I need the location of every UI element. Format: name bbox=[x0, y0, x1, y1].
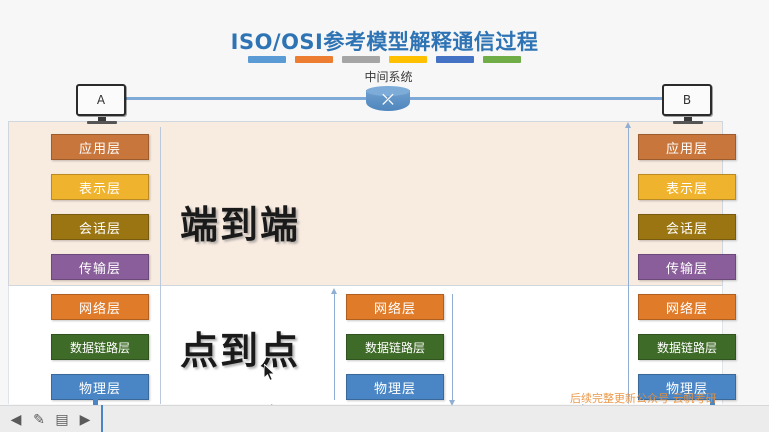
layer-box-datalink-mid[interactable]: 数据链路层 bbox=[346, 334, 444, 360]
watermark-line-1: 后续完整更新公众号 云帆考研 bbox=[570, 390, 717, 406]
arrow-head-up-icon bbox=[625, 122, 631, 128]
layer-box-presentation[interactable]: 表示层 bbox=[51, 174, 149, 200]
arrow-down-out-of-router-stack bbox=[452, 294, 453, 400]
host-a-label: A bbox=[76, 84, 126, 116]
title-decoration-bars bbox=[0, 56, 769, 63]
caption-end-to-end: 端到端 bbox=[180, 194, 300, 249]
router-icon: ⤫ bbox=[366, 86, 410, 114]
link-host-a-to-router bbox=[126, 97, 369, 100]
layer-box-transport[interactable]: 传输层 bbox=[51, 254, 149, 280]
layer-box-network-mid[interactable]: 网络层 bbox=[346, 294, 444, 320]
toolbar-accent-bar bbox=[101, 405, 103, 432]
layer-box-session[interactable]: 会话层 bbox=[51, 214, 149, 240]
layer-box-session-right[interactable]: 会话层 bbox=[638, 214, 736, 240]
layer-box-application[interactable]: 应用层 bbox=[51, 134, 149, 160]
pen-icon[interactable]: ✎ bbox=[31, 413, 47, 427]
host-a-computer: A bbox=[76, 84, 128, 124]
arrow-head-up-icon bbox=[331, 288, 337, 294]
next-slide-icon[interactable]: ▶ bbox=[77, 413, 93, 427]
arrow-up-into-router-stack bbox=[334, 294, 335, 400]
slide-canvas: ISO/OSI参考模型解释通信过程 A B 中间系统 ⤫ 应用层 表示层 会话层 bbox=[0, 0, 769, 432]
title-bar-6 bbox=[483, 56, 521, 63]
title-bar-4 bbox=[389, 56, 427, 63]
note-icon[interactable]: ▤ bbox=[54, 413, 70, 427]
layer-box-physical[interactable]: 物理层 bbox=[51, 374, 149, 400]
page-title: ISO/OSI参考模型解释通信过程 bbox=[0, 26, 769, 56]
layer-box-presentation-right[interactable]: 表示层 bbox=[638, 174, 736, 200]
title-bar-3 bbox=[342, 56, 380, 63]
arrow-up-host-b-stack bbox=[628, 128, 629, 398]
previous-slide-icon[interactable]: ◀ bbox=[8, 413, 24, 427]
layer-box-datalink-right[interactable]: 数据链路层 bbox=[638, 334, 736, 360]
title-bar-2 bbox=[295, 56, 333, 63]
monitor-base bbox=[673, 121, 703, 124]
layer-box-network-right[interactable]: 网络层 bbox=[638, 294, 736, 320]
host-b-computer: B bbox=[662, 84, 714, 124]
title-bar-1 bbox=[248, 56, 286, 63]
caption-point-to-point: 点到点 bbox=[180, 320, 300, 375]
layer-box-datalink[interactable]: 数据链路层 bbox=[51, 334, 149, 360]
layer-box-application-right[interactable]: 应用层 bbox=[638, 134, 736, 160]
guide-line-left bbox=[160, 127, 161, 404]
link-router-to-host-b bbox=[408, 97, 664, 100]
router-arrows-glyph: ⤫ bbox=[366, 90, 410, 110]
host-b-label: B bbox=[662, 84, 712, 116]
layer-box-network[interactable]: 网络层 bbox=[51, 294, 149, 320]
layer-box-physical-mid[interactable]: 物理层 bbox=[346, 374, 444, 400]
title-bar-5 bbox=[436, 56, 474, 63]
layer-box-transport-right[interactable]: 传输层 bbox=[638, 254, 736, 280]
middle-system-label: 中间系统 bbox=[336, 68, 441, 85]
monitor-base bbox=[87, 121, 117, 124]
player-toolbar: ◀ ✎ ▤ ▶ bbox=[0, 405, 769, 432]
